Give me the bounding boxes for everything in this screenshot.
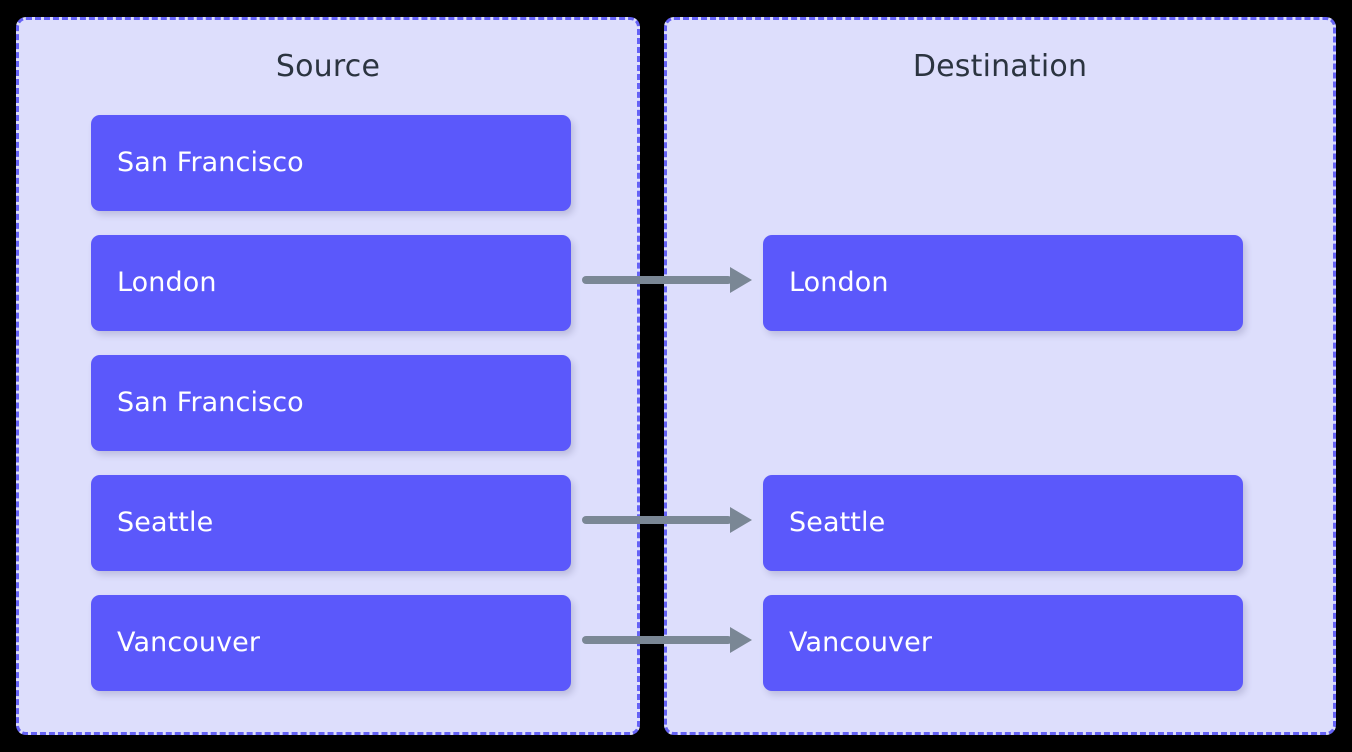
source-node-san-francisco-1[interactable]: San Francisco — [91, 115, 571, 211]
source-panel-title: Source — [19, 49, 637, 85]
node-label: San Francisco — [91, 147, 304, 179]
diagram-canvas: Source San Francisco London San Francisc… — [0, 0, 1352, 752]
destination-panel-title: Destination — [667, 49, 1333, 85]
source-node-san-francisco-2[interactable]: San Francisco — [91, 355, 571, 451]
node-label: Seattle — [763, 507, 885, 539]
source-panel: Source San Francisco London San Francisc… — [16, 17, 640, 735]
node-label: Vancouver — [91, 627, 260, 659]
destination-node-london[interactable]: London — [763, 235, 1243, 331]
node-label: London — [763, 267, 889, 299]
node-label: Vancouver — [763, 627, 932, 659]
destination-node-vancouver[interactable]: Vancouver — [763, 595, 1243, 691]
source-node-seattle[interactable]: Seattle — [91, 475, 571, 571]
source-node-vancouver[interactable]: Vancouver — [91, 595, 571, 691]
node-label: Seattle — [91, 507, 213, 539]
destination-node-seattle[interactable]: Seattle — [763, 475, 1243, 571]
node-label: London — [91, 267, 217, 299]
source-node-london[interactable]: London — [91, 235, 571, 331]
node-label: San Francisco — [91, 387, 304, 419]
destination-panel: Destination London Seattle Vancouver — [664, 17, 1336, 735]
